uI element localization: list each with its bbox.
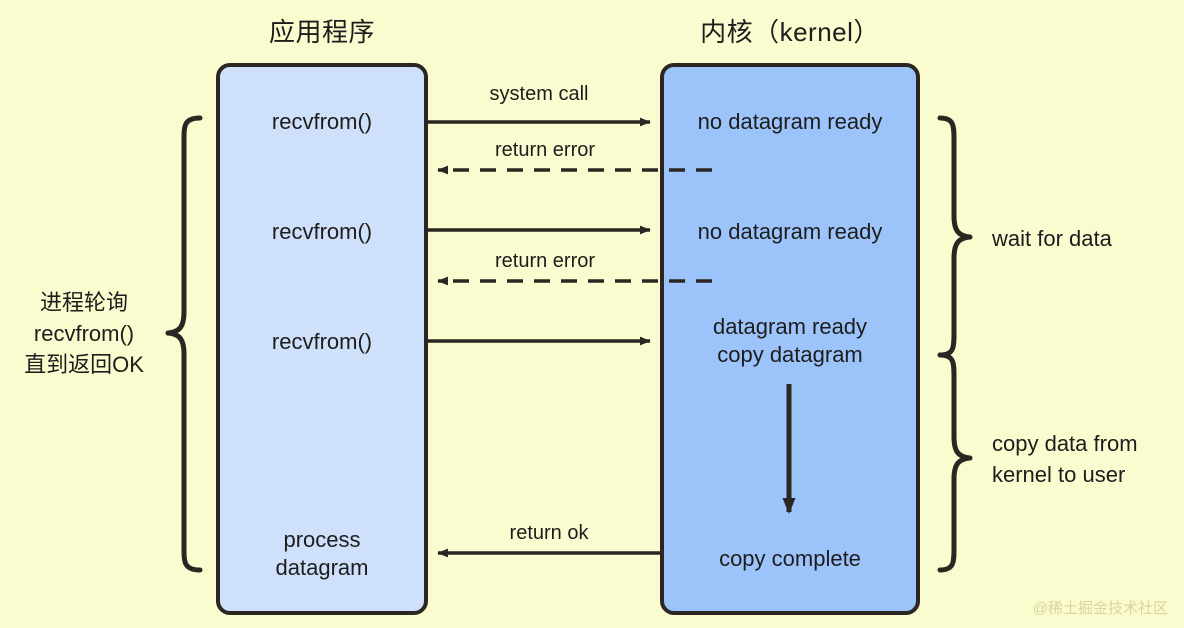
application-column-title: 应用程序: [216, 12, 428, 49]
left-brace: [168, 118, 200, 570]
kernel-step-no-datagram-1: no datagram ready: [660, 108, 920, 136]
kernel-column-title: 内核（kernel）: [660, 12, 920, 49]
left-annotation-line2: recvfrom(): [8, 318, 160, 349]
right-annotation-wait-for-data: wait for data: [992, 223, 1178, 254]
right-annotation-copy-line1: copy data from: [992, 428, 1184, 459]
right-annotation-wait-line1: wait for data: [992, 223, 1178, 254]
edge-label-return-error-2: return error: [438, 250, 652, 273]
edge-label-system-call: system call: [428, 83, 650, 106]
kernel-step-datagram-ready: datagram ready copy datagram: [660, 313, 920, 369]
app-step-recvfrom-2: recvfrom(): [216, 218, 428, 246]
app-step-process-datagram-line1: process: [216, 526, 428, 554]
left-annotation-line1: 进程轮询: [8, 287, 160, 318]
right-brace-wait-for-data: [940, 118, 970, 355]
app-step-process-datagram: process datagram: [216, 526, 428, 582]
app-step-recvfrom-3: recvfrom(): [216, 328, 428, 356]
left-annotation-line3: 直到返回OK: [8, 349, 160, 380]
right-annotation-copy-data: copy data from kernel to user: [992, 428, 1184, 490]
kernel-step-copy-complete: copy complete: [660, 545, 920, 573]
kernel-step-datagram-ready-line1: datagram ready: [660, 313, 920, 341]
kernel-step-datagram-ready-line2: copy datagram: [660, 341, 920, 369]
edge-label-return-ok: return ok: [438, 522, 660, 545]
diagram-canvas: 应用程序 内核（kernel） recvfrom() recvfrom() re…: [0, 0, 1184, 628]
right-annotation-copy-line2: kernel to user: [992, 459, 1184, 490]
right-brace-copy-data: [940, 355, 970, 570]
left-annotation-polling: 进程轮询 recvfrom() 直到返回OK: [8, 287, 160, 380]
watermark: @稀土掘金技术社区: [1033, 597, 1168, 618]
app-step-recvfrom-1: recvfrom(): [216, 108, 428, 136]
edge-label-return-error-1: return error: [438, 139, 652, 162]
kernel-step-no-datagram-2: no datagram ready: [660, 218, 920, 246]
app-step-process-datagram-line2: datagram: [216, 554, 428, 582]
